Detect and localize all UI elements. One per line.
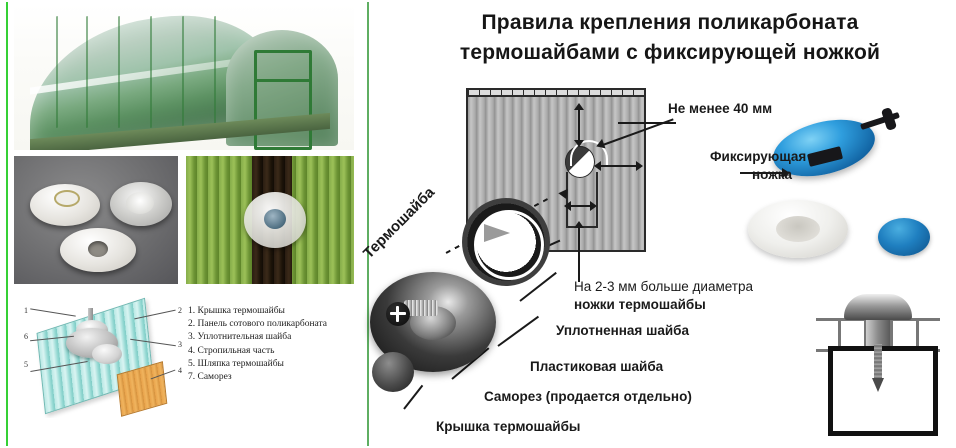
dim-arrow-vertical-shaft <box>578 108 580 144</box>
callout-leader-1 <box>30 308 76 316</box>
section-screw-tip <box>872 378 884 392</box>
bore-width-right-head <box>590 201 597 211</box>
callout-number-2: 2 <box>178 306 182 315</box>
phillips-screw-head-icon <box>386 302 410 326</box>
cross-section-drawing <box>816 286 942 430</box>
page-title-line1: Правила крепления поликарбоната <box>392 8 948 38</box>
callout-number-5: 5 <box>24 360 28 369</box>
washer-cap-art <box>372 352 414 392</box>
dim-arrow-left-head <box>594 161 601 171</box>
dim-arrow-down-head <box>574 140 584 147</box>
legend-item: 7. Саморез <box>188 371 360 384</box>
callout-number-3: 3 <box>178 340 182 349</box>
clear-washer-part <box>110 182 172 226</box>
legend-item: 1. Крышка термошайбы <box>188 305 360 318</box>
legend-item: 2. Панель сотового поликарбоната <box>188 318 360 331</box>
page-title-line2: термошайбами с фиксирующей ножкой <box>392 38 948 68</box>
label-plastic-washer: Пластиковая шайба <box>530 358 663 375</box>
label-screw: Саморез (продается отдельно) <box>484 388 692 405</box>
callout-number-1: 1 <box>24 306 28 315</box>
dim-arrow-horizontal-shaft <box>598 165 640 167</box>
hole-bore-outline <box>566 172 598 228</box>
label-cap: Крышка термошайбы <box>436 418 580 435</box>
legend-item: 4. Стропильная часть <box>188 345 360 358</box>
page-title: Правила крепления поликарбоната термошай… <box>392 8 948 68</box>
thermowasher-rotated-label: Термошайба <box>360 184 438 262</box>
blue-cap-photo <box>878 218 930 256</box>
exploded-assembly-diagram: 1 6 5 2 3 4 <box>14 290 190 418</box>
section-leg-plug <box>866 318 890 346</box>
section-washer-dome <box>844 294 912 320</box>
label-sealed-washer: Уплотненная шайба <box>556 322 689 339</box>
leader-cap <box>403 385 423 410</box>
greenhouse-photo <box>14 4 354 150</box>
white-foam-ring-photo <box>748 200 848 258</box>
dim-arrow-right-head <box>636 161 643 171</box>
section-screw-shank <box>874 344 882 382</box>
mounted-thermal-washer <box>244 192 306 248</box>
washer-on-polycarbonate-photo <box>186 156 354 284</box>
greenhouse-structure <box>30 14 330 142</box>
label-fixing-leg-line1: Фиксирующая <box>710 148 806 165</box>
callout-number-6: 6 <box>24 332 28 341</box>
dim-arrow-up-head <box>574 103 584 110</box>
bore-callout-head <box>574 221 584 228</box>
legend-list: 1. Крышка термошайбы 2. Панель сотового … <box>188 305 360 384</box>
bore-width-left-head <box>564 201 571 211</box>
greenhouse-door <box>254 50 312 150</box>
left-green-rule <box>6 2 8 446</box>
ring-washer-screw-cone <box>484 224 510 242</box>
legend-item: 5. Шляпка термошайбы <box>188 358 360 371</box>
poster-root: 1 6 5 2 3 4 1. Крышка термошайбы 2. Пане… <box>0 0 956 448</box>
label-fixing-leg-line2: ножка <box>752 166 792 183</box>
label-min-distance: Не менее 40 мм <box>668 100 772 117</box>
legend-item: 3. Уплотнительная шайба <box>188 331 360 344</box>
foam-ring-part <box>60 228 136 272</box>
label-hole-size-line2: ножки термошайбы <box>574 296 706 313</box>
leader-plastic-washer <box>497 316 539 347</box>
bore-callout-shaft <box>578 226 580 282</box>
thermal-washer-parts-photo <box>14 156 178 284</box>
washer-cap-part <box>30 184 100 226</box>
callout-number-4: 4 <box>178 366 182 375</box>
center-green-divider <box>367 2 369 446</box>
seal-washer-3d <box>92 344 122 364</box>
label-hole-size-line1: На 2-3 мм больше диаметра <box>574 278 753 295</box>
